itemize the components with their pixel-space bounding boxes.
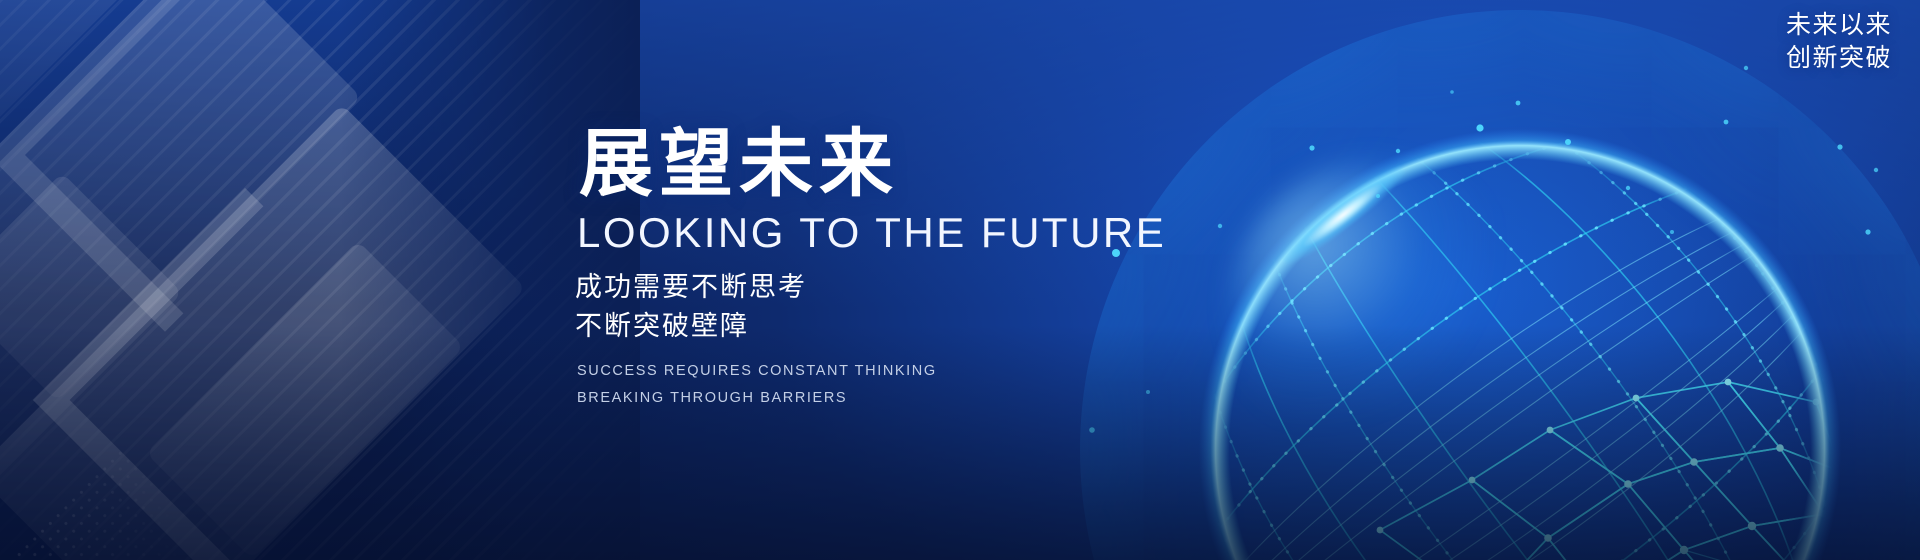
subtitle-en-line-2: BREAKING THROUGH BARRIERS	[577, 385, 1275, 412]
subtitle-cn-line-2: 不断突破壁障	[575, 307, 1275, 346]
corner-slogan-line-1: 未来以来	[1786, 8, 1892, 41]
headline-block: 展望未来 LOOKING TO THE FUTURE 成功需要不断思考 不断突破…	[575, 126, 1275, 412]
page-title-cn: 展望未来	[579, 126, 1275, 203]
subtitle-en-line-1: SUCCESS REQUIRES CONSTANT THINKING	[577, 358, 1275, 385]
corner-slogan: 未来以来 创新突破	[1786, 8, 1892, 74]
subtitle-cn-line-1: 成功需要不断思考	[575, 268, 1275, 307]
page-title-en: LOOKING TO THE FUTURE	[577, 209, 1275, 256]
corner-slogan-line-2: 创新突破	[1786, 41, 1892, 74]
banner-root: 展望未来 LOOKING TO THE FUTURE 成功需要不断思考 不断突破…	[0, 0, 1920, 560]
